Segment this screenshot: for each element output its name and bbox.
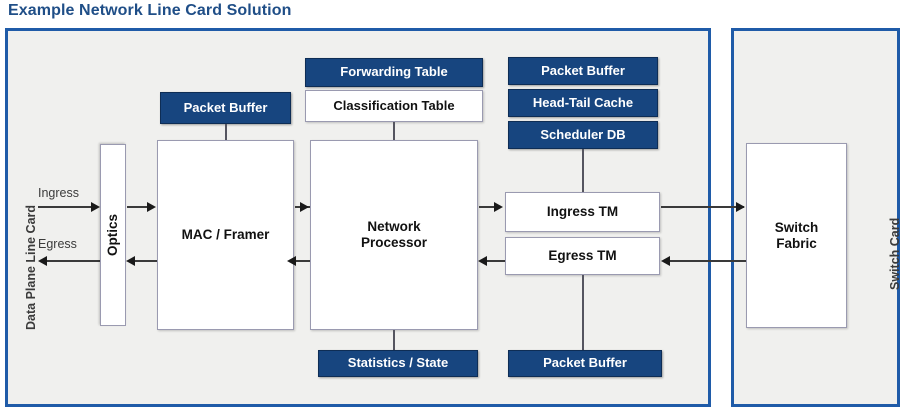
- label-ingress: Ingress: [38, 186, 79, 200]
- block-network-processor-line1: Network: [361, 219, 427, 235]
- arrowhead-mac-to-np-icon: [300, 202, 309, 212]
- block-network-processor[interactable]: Network Processor: [310, 140, 478, 330]
- connector-fabric-to-egress-tm: [668, 260, 746, 262]
- arrowhead-ingress-in-icon: [91, 202, 100, 212]
- block-packet-buffer-mac[interactable]: Packet Buffer: [160, 92, 291, 124]
- block-ingress-tm[interactable]: Ingress TM: [505, 192, 660, 232]
- arrowhead-fabric-to-egress-tm-icon: [661, 256, 670, 266]
- block-optics[interactable]: Optics: [100, 144, 126, 326]
- connector-egress-out: [46, 260, 101, 262]
- arrowhead-mac-to-optics-icon: [126, 256, 135, 266]
- block-switch-fabric-line1: Switch: [775, 220, 819, 236]
- block-head-tail-cache[interactable]: Head-Tail Cache: [508, 89, 658, 117]
- block-switch-fabric-line2: Fabric: [775, 236, 819, 252]
- connector-packetbuffer-to-mac: [225, 124, 227, 141]
- diagram-canvas: Example Network Line Card Solution Data …: [0, 0, 905, 415]
- label-switch-card: Switch Card: [888, 218, 902, 290]
- page-title: Example Network Line Card Solution: [8, 2, 291, 20]
- arrowhead-optics-to-mac-icon: [147, 202, 156, 212]
- connector-np-to-statistics: [393, 330, 395, 351]
- block-packet-buffer-tm[interactable]: Packet Buffer: [508, 57, 658, 85]
- block-mac-framer[interactable]: MAC / Framer: [157, 140, 294, 330]
- block-egress-tm[interactable]: Egress TM: [505, 237, 660, 275]
- arrowhead-np-to-mac-icon: [287, 256, 296, 266]
- connector-egress-tm-to-np: [486, 260, 506, 262]
- arrowhead-np-to-ingress-tm-icon: [494, 202, 503, 212]
- connector-egress-tm-to-packetbuffer: [582, 275, 584, 351]
- label-data-plane-line-card: Data Plane Line Card: [24, 205, 38, 330]
- connector-optics-to-mac: [127, 206, 149, 208]
- connector-ingress-in: [38, 206, 93, 208]
- block-classification-table[interactable]: Classification Table: [305, 90, 483, 122]
- block-statistics-state[interactable]: Statistics / State: [318, 350, 478, 377]
- connector-mac-to-optics: [133, 260, 157, 262]
- connector-memory-to-ingress-tm: [582, 149, 584, 193]
- block-scheduler-db[interactable]: Scheduler DB: [508, 121, 658, 149]
- block-switch-fabric[interactable]: Switch Fabric: [746, 143, 847, 328]
- connector-tables-to-np: [393, 122, 395, 141]
- block-network-processor-line2: Processor: [361, 235, 427, 251]
- label-egress: Egress: [38, 237, 77, 251]
- arrowhead-ingress-tm-to-fabric-icon: [736, 202, 745, 212]
- block-forwarding-table[interactable]: Forwarding Table: [305, 58, 483, 87]
- arrowhead-egress-out-icon: [38, 256, 47, 266]
- block-packet-buffer-bottom[interactable]: Packet Buffer: [508, 350, 662, 377]
- arrowhead-egress-tm-to-np-icon: [478, 256, 487, 266]
- connector-ingress-tm-to-fabric: [661, 206, 744, 208]
